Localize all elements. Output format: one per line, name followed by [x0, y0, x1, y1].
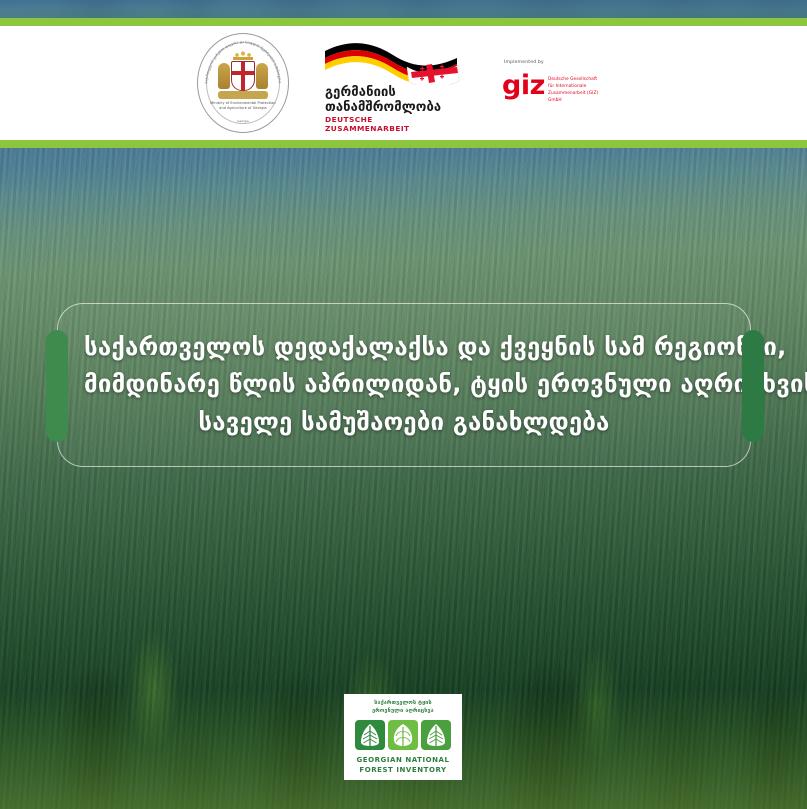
german-georgian-flag-wave-icon: [323, 37, 468, 85]
leaf-tile-3: [421, 720, 451, 750]
accent-bar-left: [46, 330, 68, 442]
seal-cross-vertical: [241, 62, 245, 90]
ministry-seal-icon: საქართველოს გარემოს დაცვისა და სოფლის მე…: [197, 33, 289, 133]
gnfi-title-en-line2: FOREST INVENTORY: [356, 765, 449, 775]
seal-lion-left-icon: [218, 63, 230, 89]
accent-bar-right: [742, 330, 764, 442]
gnfi-leaf-row: [355, 720, 451, 750]
german-caption-ka-line1: გერმანიის: [325, 85, 445, 100]
leaf-icon-2: [392, 723, 414, 747]
german-caption-ka-line2: თანამშრომლობა: [325, 100, 445, 115]
seal-shield-icon: [231, 61, 255, 91]
german-cooperation-logo: გერმანიის თანამშრომლობა DEUTSCHE ZUSAMME…: [323, 35, 468, 131]
divider-top: [0, 18, 807, 26]
giz-full-name: Deutsche Gesellschaft für Internationale…: [548, 76, 610, 104]
giz-name-line2: für Internationale: [548, 83, 610, 90]
giz-name-line3: Zusammenarbeit (GIZ) GmbH: [548, 90, 610, 104]
gnfi-title-en-line1: GEORGIAN NATIONAL: [356, 755, 449, 765]
gnfi-title-en: GEORGIAN NATIONAL FOREST INVENTORY: [356, 755, 449, 775]
seal-caption-en: Ministry of Environmental Protection and…: [209, 101, 277, 111]
headline-line-2: მიმდინარე წლის აპრილიდან, ტყის ეროვნული …: [84, 366, 724, 403]
divider-bottom: [0, 140, 807, 148]
seal-sub-caption: Georgia: [213, 119, 273, 123]
german-cooperation-caption-ka: გერმანიის თანამშრომლობა: [325, 85, 445, 116]
seal-lion-right-icon: [256, 63, 268, 89]
headline-line-1: საქართველოს დედაქალაქსა და ქვეყნის სამ რ…: [84, 329, 724, 366]
headline-card: საქართველოს დედაქალაქსა და ქვეყნის სამ რ…: [57, 303, 751, 467]
headline-text: საქართველოს დედაქალაქსა და ქვეყნის სამ რ…: [84, 329, 724, 441]
gnfi-title-ka-line1: საქართველოს ტყის: [372, 699, 434, 707]
seal-cross-horizontal: [232, 71, 254, 75]
gnfi-title-ka: საქართველოს ტყის ეროვნული აღრიცხვა: [372, 699, 434, 715]
giz-name-line1: Deutsche Gesellschaft: [548, 76, 610, 83]
partner-logo-band: საქართველოს გარემოს დაცვისა და სოფლის მე…: [0, 26, 807, 140]
german-cooperation-caption-de: DEUTSCHE ZUSAMMENARBEIT: [325, 115, 455, 133]
gnfi-logo-card: საქართველოს ტყის ეროვნული აღრიცხვა: [344, 694, 462, 780]
giz-implemented-by-label: Implemented by: [504, 60, 544, 65]
seal-crown-icon: [233, 51, 253, 60]
giz-wordmark: giz: [502, 72, 545, 99]
leaf-icon-3: [425, 723, 447, 747]
leaf-icon-1: [359, 723, 381, 747]
seal-ribbon-icon: [218, 91, 268, 99]
promo-banner-page: საქართველოს გარემოს დაცვისა და სოფლის მე…: [0, 0, 807, 809]
gnfi-title-ka-line2: ეროვნული აღრიცხვა: [372, 707, 434, 715]
giz-logo: Implemented by giz Deutsche Gesellschaft…: [502, 60, 610, 112]
headline-line-3: საველე სამუშაოები განახლდება: [84, 404, 724, 441]
leaf-tile-2: [388, 720, 418, 750]
leaf-tile-1: [355, 720, 385, 750]
